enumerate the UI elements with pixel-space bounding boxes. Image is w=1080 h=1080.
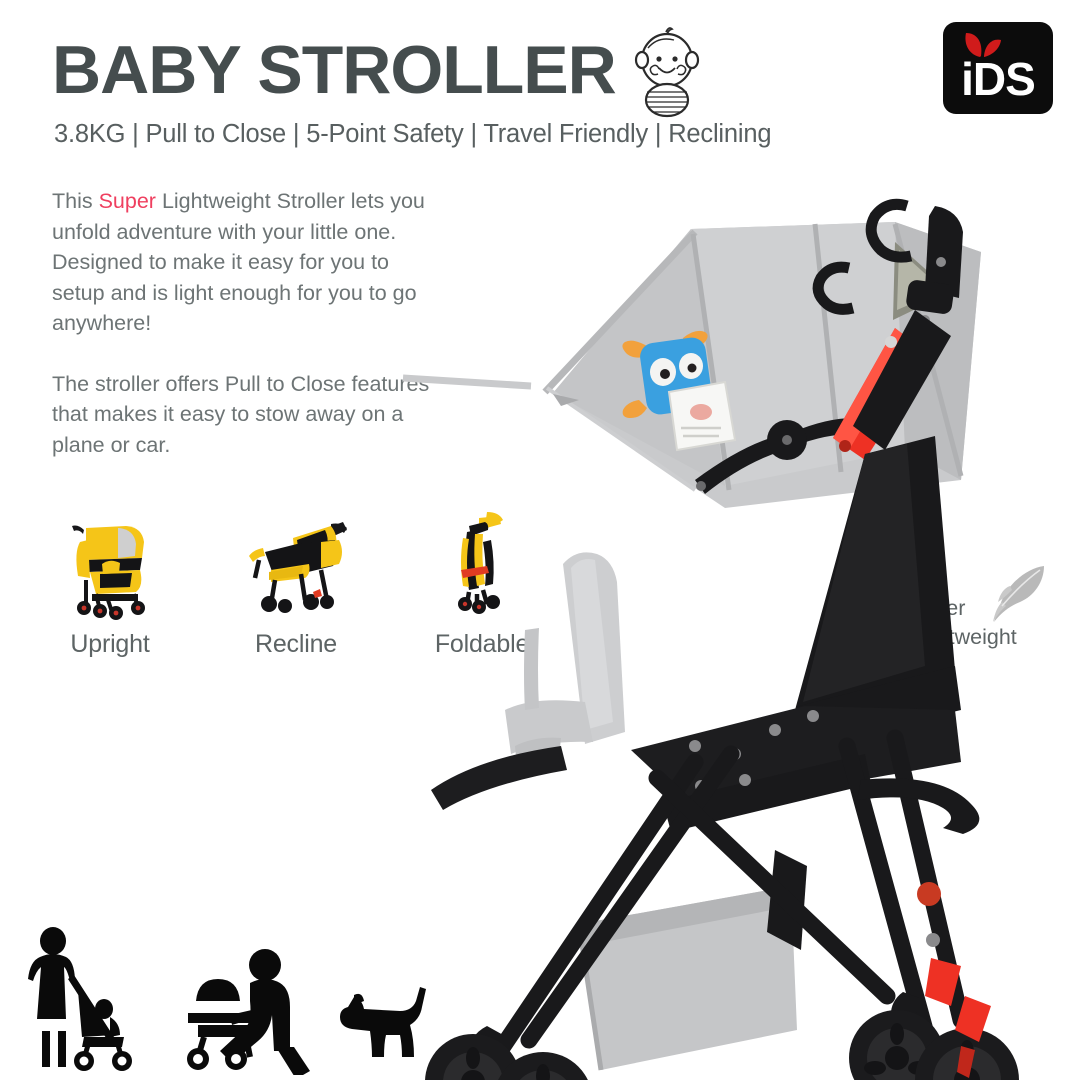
feature-image-upright [40, 502, 180, 620]
feature-image-recline [226, 502, 366, 620]
baby-face-icon [630, 26, 704, 118]
product-description: This Super Lightweight Stroller lets you… [52, 186, 444, 460]
infographic-canvas: BABY STROLLER 3.8KG | Pull to Clo [0, 0, 1080, 1080]
feature-item-recline[interactable]: Recline [226, 502, 366, 659]
ids-logo[interactable]: iDS [943, 22, 1053, 114]
stroller-footrest [431, 552, 625, 810]
desc-highlight-super: Super [99, 189, 156, 213]
page-title: BABY STROLLER [52, 36, 616, 104]
description-paragraph-2: The stroller offers Pull to Close featur… [52, 369, 444, 461]
subtitle-feature-list: 3.8KG | Pull to Close | 5-Point Safety |… [54, 120, 771, 149]
desc-p1-pre: This [52, 189, 99, 213]
baby-stroller-product-photo [395, 150, 1080, 1080]
feature-label-upright: Upright [40, 630, 180, 659]
feature-label-recline: Recline [226, 630, 366, 659]
header-title-row: BABY STROLLER [52, 22, 704, 118]
frame-pivot-button [917, 882, 941, 906]
description-paragraph-1: This Super Lightweight Stroller lets you… [52, 186, 444, 339]
stroller-upright-icon [56, 508, 164, 620]
logo-text: iDS [952, 56, 1044, 102]
woman-with-stroller-pictogram [28, 927, 132, 1071]
man-pushing-pram-pictogram [187, 949, 310, 1075]
pictogram-row [18, 925, 438, 1075]
stroller-recline-icon [235, 508, 357, 620]
feature-item-upright[interactable]: Upright [40, 502, 180, 659]
